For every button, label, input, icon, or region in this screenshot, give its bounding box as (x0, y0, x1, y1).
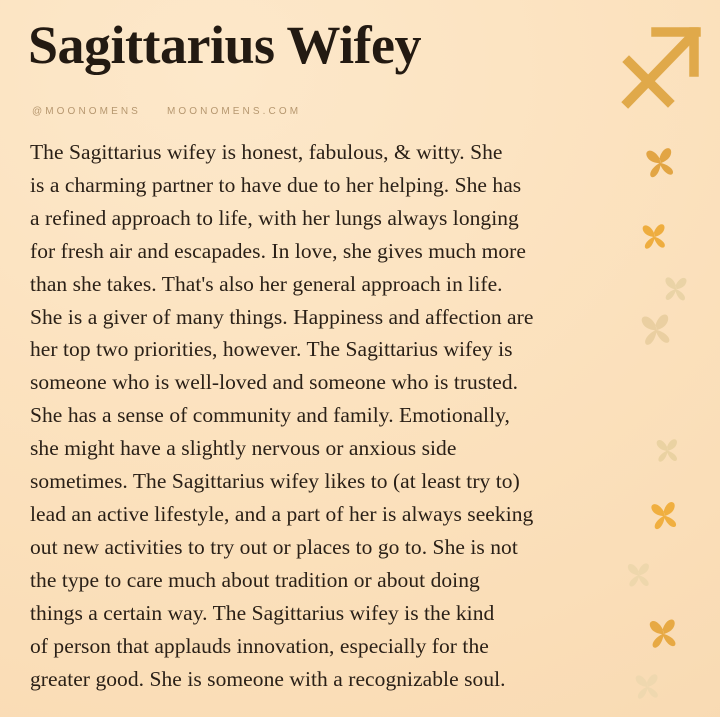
body-line: a refined approach to life, with her lun… (30, 202, 630, 235)
body-line: someone who is well-loved and someone wh… (30, 366, 630, 399)
sagittarius-arrow-icon (620, 18, 708, 110)
card-header: Sagittarius Wifey @MOONOMENS MOONOMENS.C… (0, 0, 720, 132)
butterfly-1 (643, 144, 679, 180)
butterfly-6 (648, 498, 681, 531)
body-line: out new activities to try out or places … (30, 531, 630, 564)
butterfly-9 (633, 671, 663, 701)
attribution-handle: @MOONOMENS (32, 106, 141, 117)
body-line: She has a sense of community and family.… (30, 399, 630, 432)
body-line: she might have a slightly nervous or anx… (30, 432, 630, 465)
body-line: the type to care much about tradition or… (30, 564, 630, 597)
butterfly-2 (640, 221, 670, 251)
page-title: Sagittarius Wifey (28, 17, 421, 74)
butterfly-8 (647, 616, 682, 651)
body-line: things a certain way. The Sagittarius wi… (30, 597, 630, 630)
butterfly-3 (663, 275, 691, 303)
zodiac-infographic-card: Sagittarius Wifey @MOONOMENS MOONOMENS.C… (0, 0, 720, 717)
butterfly-4 (638, 310, 675, 347)
description-paragraph: The Sagittarius wifey is honest, fabulou… (30, 136, 630, 695)
butterfly-5 (654, 436, 681, 463)
body-line: than she takes. That's also her general … (30, 268, 630, 301)
body-line: She is a giver of many things. Happiness… (30, 301, 630, 334)
body-line: for fresh air and escapades. In love, sh… (30, 235, 630, 268)
body-line: lead an active lifestyle, and a part of … (30, 498, 630, 531)
butterfly-7 (626, 561, 654, 589)
body-line: of person that applauds innovation, espe… (30, 630, 630, 663)
attribution: @MOONOMENS MOONOMENS.COM (32, 106, 301, 117)
body-line: sometimes. The Sagittarius wifey likes t… (30, 465, 630, 498)
body-line: her top two priorities, however. The Sag… (30, 333, 630, 366)
body-line: greater good. She is someone with a reco… (30, 663, 630, 696)
body-line: is a charming partner to have due to her… (30, 169, 630, 202)
attribution-website: MOONOMENS.COM (167, 106, 301, 117)
body-line: The Sagittarius wifey is honest, fabulou… (30, 136, 630, 169)
